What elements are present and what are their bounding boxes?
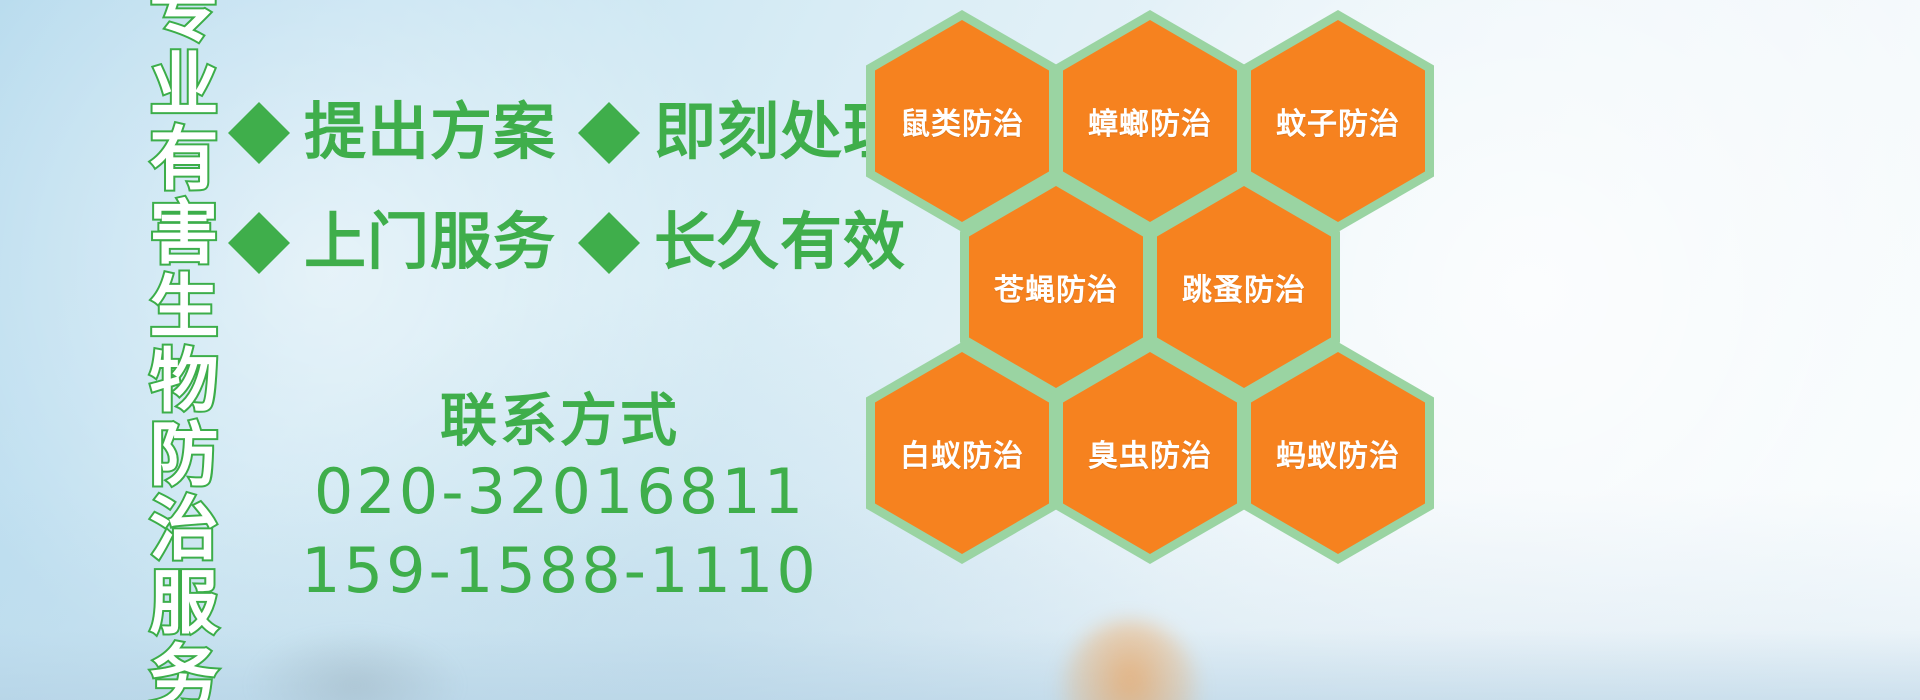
background-blurred-grey-object <box>250 630 460 700</box>
vertical-title: 专业有害生物防治服务 <box>108 14 212 674</box>
service-label: 蟑螂防治 <box>1088 99 1212 143</box>
feature-list: 提出方案 即刻处理 上门服务 长久有效 <box>228 78 868 298</box>
service-label: 蚂蚁防治 <box>1276 431 1400 475</box>
feature-item-immediate-handling: 即刻处理 <box>578 102 906 164</box>
service-label: 跳蚤防治 <box>1182 265 1306 309</box>
diamond-bullet-icon <box>228 181 290 243</box>
background-blurred-orange-object <box>1060 620 1200 700</box>
feature-row: 提出方案 即刻处理 <box>228 78 868 188</box>
service-label: 蚊子防治 <box>1276 99 1400 143</box>
diamond-bullet-icon <box>578 71 640 133</box>
feature-item-long-lasting: 长久有效 <box>578 212 906 274</box>
service-label: 白蚁防治 <box>900 431 1024 475</box>
phone-mobile[interactable]: 159-1588-1110 <box>300 531 820 610</box>
service-honeycomb: 鼠类防治 蟑螂防治 蚊子防治 苍蝇防治 跳蚤防治 白蚁防治 臭虫防治 <box>862 0 1462 560</box>
contact-label: 联系方式 <box>300 392 820 452</box>
feature-item-onsite-service: 上门服务 <box>228 212 556 274</box>
service-label: 鼠类防治 <box>900 99 1024 143</box>
service-label: 苍蝇防治 <box>994 265 1118 309</box>
feature-row: 上门服务 长久有效 <box>228 188 868 298</box>
phone-landline[interactable]: 020-32016811 <box>300 452 820 531</box>
feature-label: 上门服务 <box>304 212 556 274</box>
background-floor-gradient <box>0 630 1920 700</box>
diamond-bullet-icon <box>578 181 640 243</box>
diamond-bullet-icon <box>228 71 290 133</box>
feature-label: 提出方案 <box>304 102 556 164</box>
pest-control-banner: 专业有害生物防治服务 提出方案 即刻处理 上门服务 长久有效 联 <box>0 0 1920 700</box>
service-label: 臭虫防治 <box>1088 431 1212 475</box>
contact-block: 联系方式 020-32016811 159-1588-1110 <box>300 392 820 611</box>
feature-item-propose-plan: 提出方案 <box>228 102 556 164</box>
